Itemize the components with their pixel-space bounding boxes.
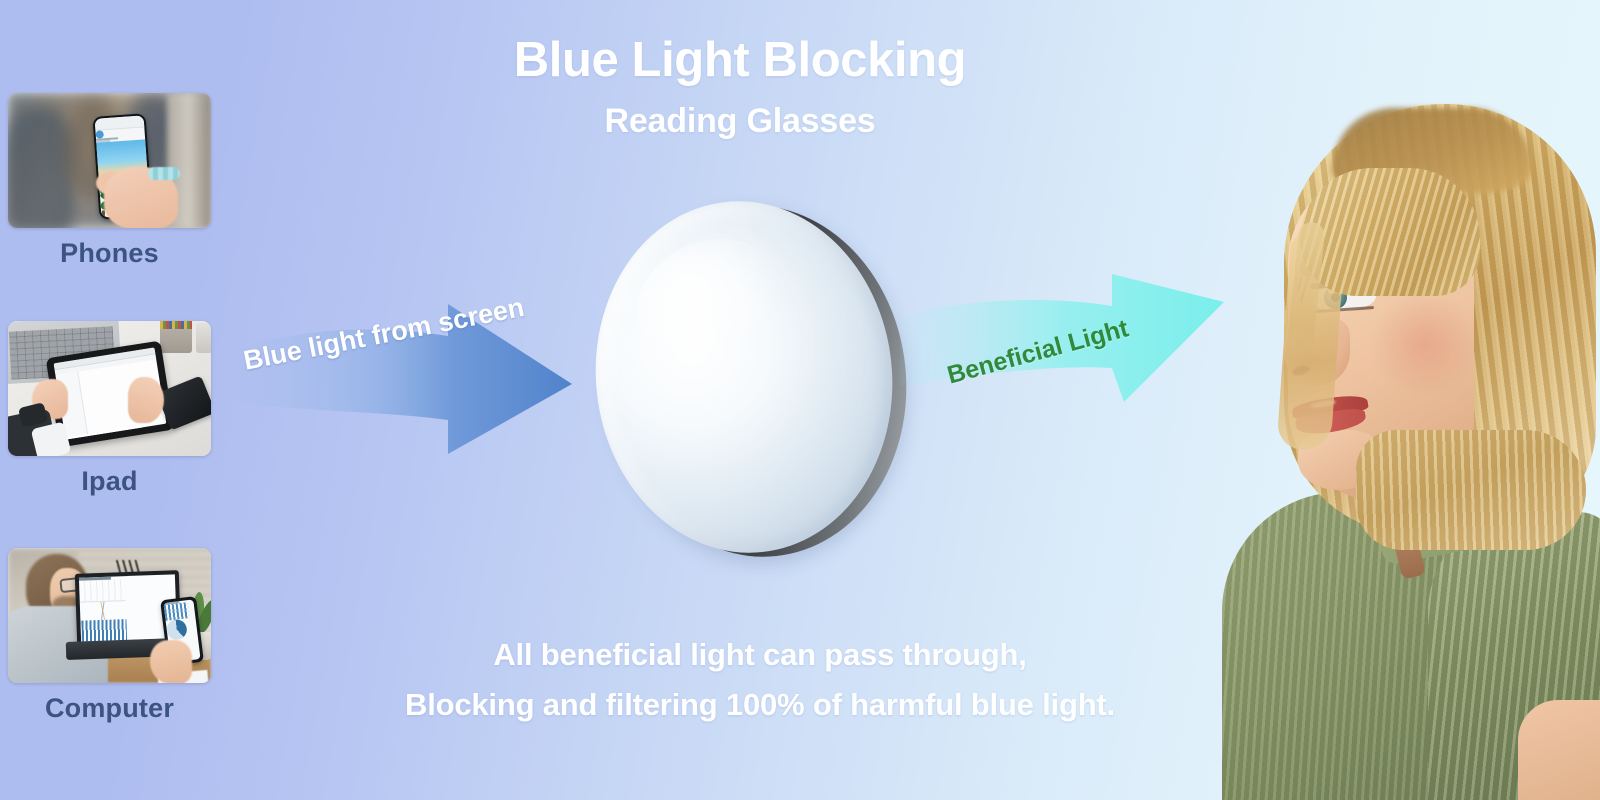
sidebar-item-ipad[interactable]: Ipad (8, 321, 211, 497)
device-thumbnail-sidebar: Phones (0, 0, 225, 800)
page-subtitle: Reading Glasses (300, 104, 1180, 138)
sidebar-item-label-phones: Phones (8, 239, 211, 269)
page-title: Blue Light Blocking (300, 36, 1180, 85)
sidebar-item-label-ipad: Ipad (8, 467, 211, 497)
benefit-statement-line-2: Blocking and filtering 100% of harmful b… (300, 680, 1220, 730)
blue-light-blocking-lens (592, 195, 912, 565)
promo-banner: Phones (0, 0, 1600, 800)
benefit-statement: All beneficial light can pass through, B… (300, 630, 1220, 730)
phones-photo (8, 93, 211, 228)
woman-profile-photo (1180, 0, 1600, 800)
benefit-statement-line-1: All beneficial light can pass through, (300, 630, 1220, 680)
sidebar-item-label-computer: Computer (8, 694, 211, 724)
computer-photo (8, 548, 211, 683)
sidebar-item-computer[interactable]: Computer (8, 548, 211, 724)
ipad-photo (8, 321, 211, 456)
sidebar-item-phones[interactable]: Phones (8, 93, 211, 269)
